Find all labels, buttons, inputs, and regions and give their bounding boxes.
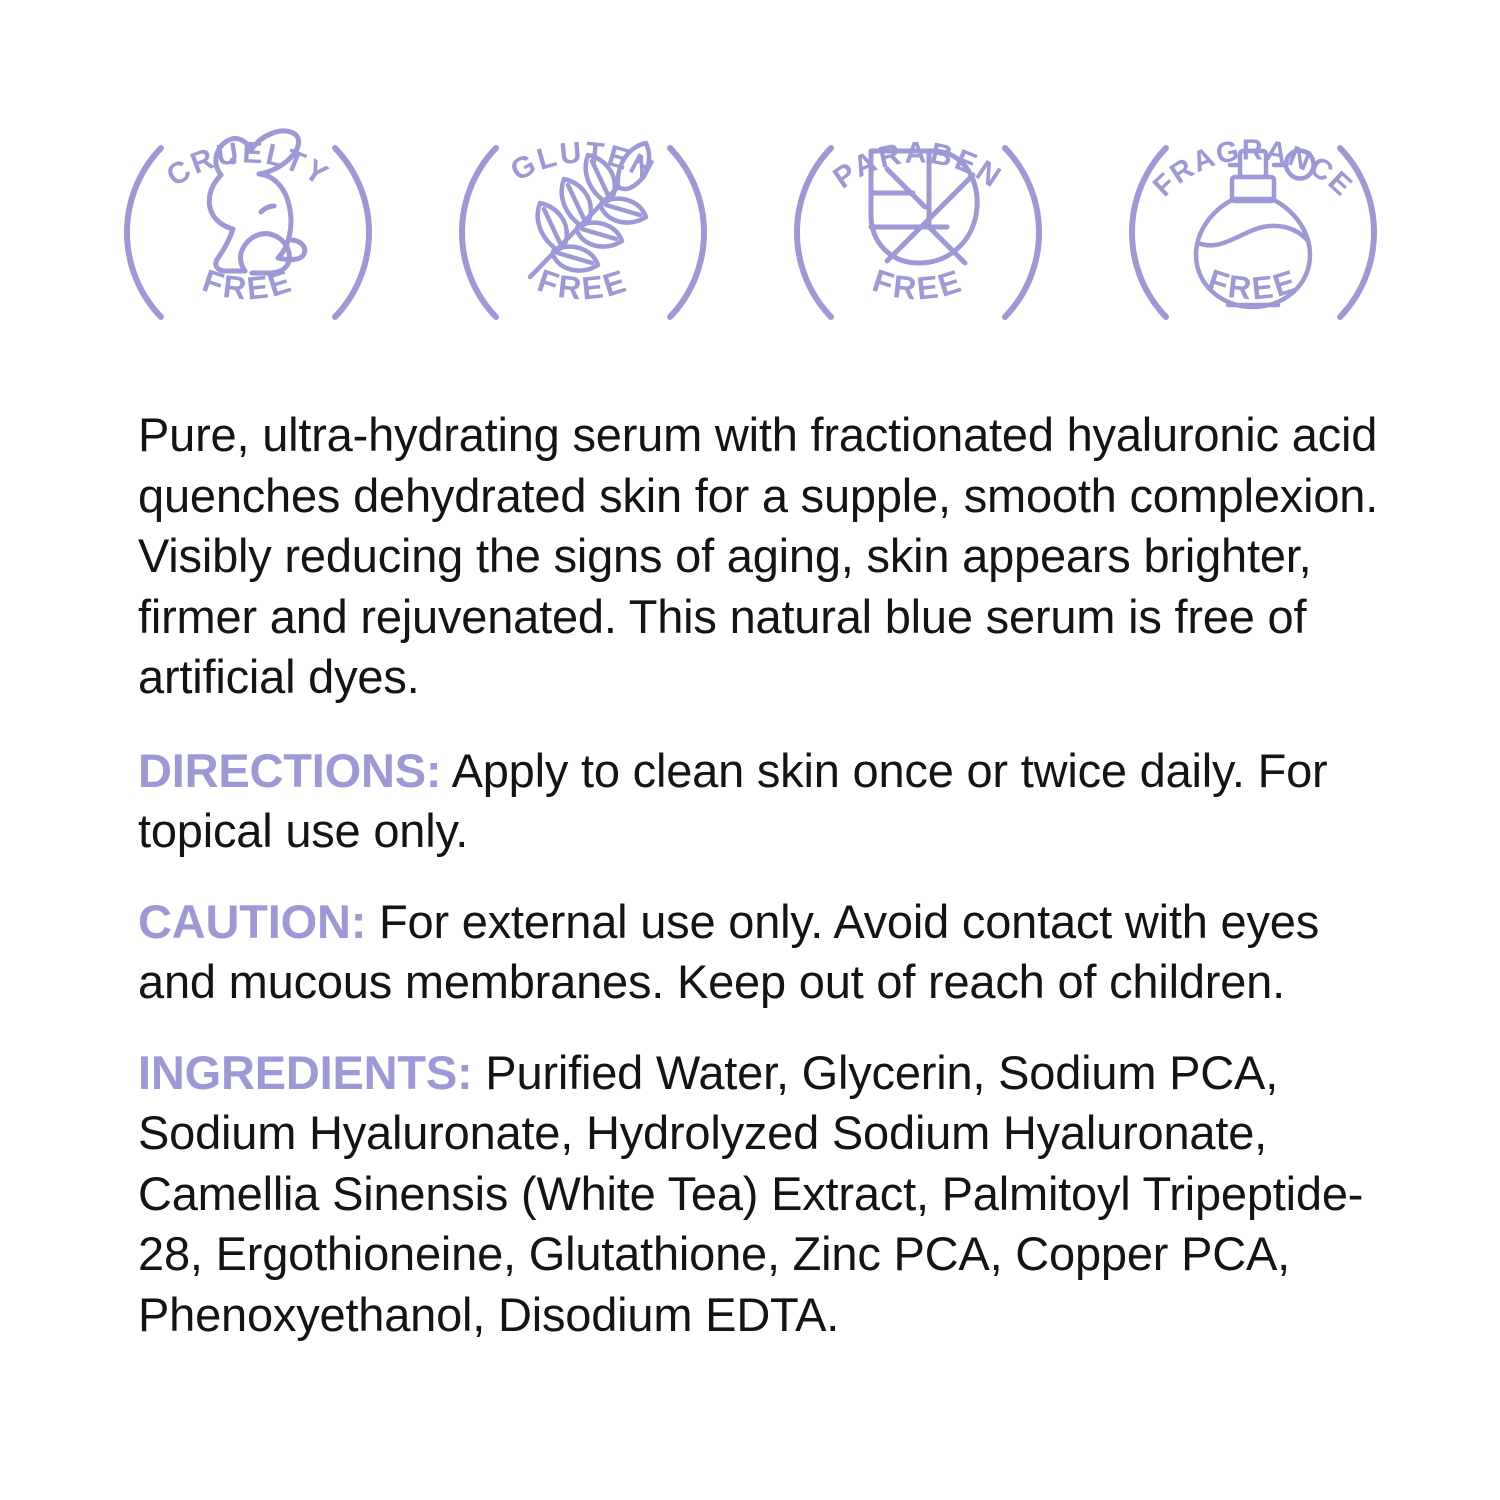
badge-top-label: PARABEN	[827, 136, 1008, 195]
caution-heading: CAUTION:	[138, 895, 366, 948]
cruelty-free-badge: CRUELTY FREE	[113, 55, 383, 365]
gluten-free-badge: GLUTEN FREE	[448, 55, 718, 365]
badge-bottom-label: FREE	[1203, 262, 1302, 307]
label-copy: Pure, ultra-hydrating serum with fractio…	[138, 405, 1383, 1345]
directions-heading: DIRECTIONS:	[138, 744, 441, 797]
fragrance-free-badge: FRAGRANCE FREE	[1118, 55, 1388, 365]
directions-paragraph: DIRECTIONS: Apply to clean skin once or …	[138, 741, 1383, 862]
badge-bottom-label: FREE	[868, 262, 967, 307]
badge-top-label: FRAGRANCE	[1147, 134, 1359, 203]
paraben-free-badge: PARABEN FREE	[783, 55, 1053, 365]
ingredients-heading: INGREDIENTS:	[138, 1046, 472, 1099]
product-description: Pure, ultra-hydrating serum with fractio…	[138, 405, 1383, 708]
product-label-panel: CRUELTY FREE	[0, 0, 1500, 1500]
caution-paragraph: CAUTION: For external use only. Avoid co…	[138, 892, 1383, 1013]
certification-badge-row: CRUELTY FREE	[0, 55, 1500, 385]
ingredients-paragraph: INGREDIENTS: Purified Water, Glycerin, S…	[138, 1043, 1383, 1346]
